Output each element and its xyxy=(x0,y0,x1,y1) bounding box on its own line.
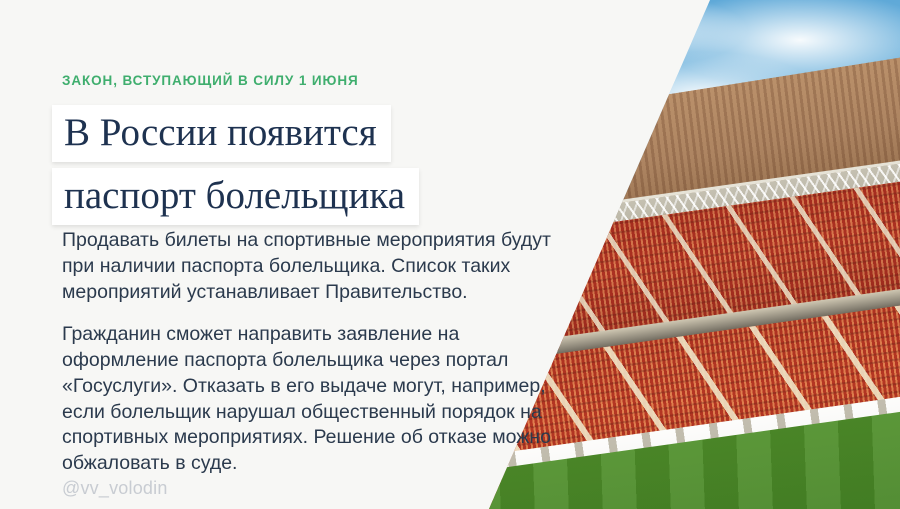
text-panel: ЗАКОН, ВСТУПАЮЩИЙ В СИЛУ 1 ИЮНЯ В России… xyxy=(0,0,560,509)
headline-line-2: паспорт болельщика xyxy=(52,168,419,225)
body-paragraph-1: Продавать билеты на спортивные мероприят… xyxy=(62,228,572,306)
account-handle: @vv_volodin xyxy=(62,478,168,499)
body-text: Продавать билеты на спортивные мероприят… xyxy=(62,228,572,477)
headline-line-1-row: В России появится xyxy=(52,105,419,168)
body-paragraph-2: Гражданин сможет направить заявление на … xyxy=(62,322,572,478)
headline-line-1: В России появится xyxy=(52,105,391,162)
headline-line-2-row: паспорт болельщика xyxy=(52,168,419,231)
kicker-label: ЗАКОН, ВСТУПАЮЩИЙ В СИЛУ 1 ИЮНЯ xyxy=(62,73,359,88)
page-title: В России появится паспорт болельщика xyxy=(52,105,419,231)
news-card: ЗАКОН, ВСТУПАЮЩИЙ В СИЛУ 1 ИЮНЯ В России… xyxy=(0,0,900,509)
